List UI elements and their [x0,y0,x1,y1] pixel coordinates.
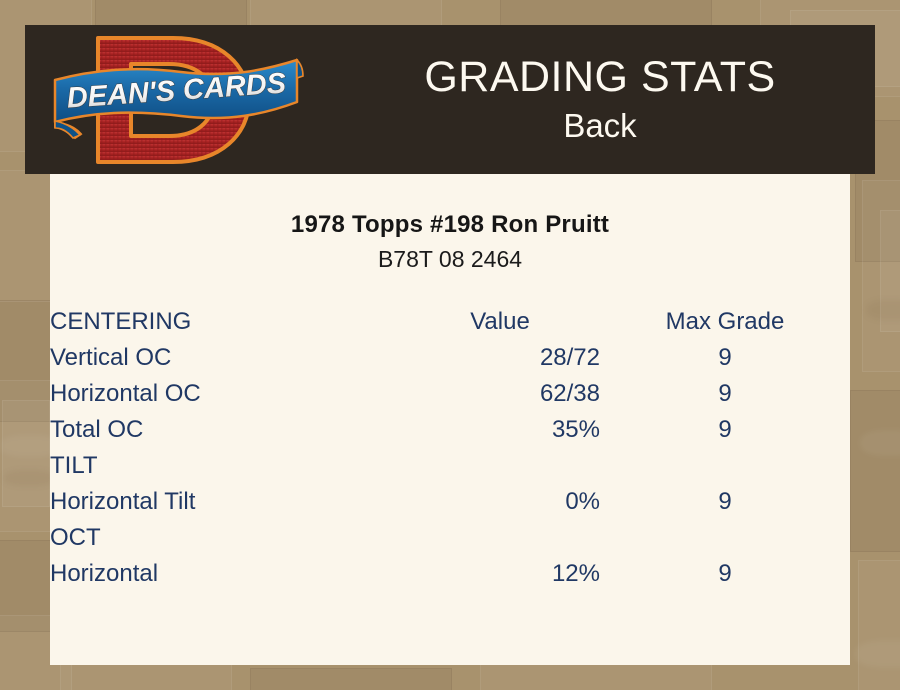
header-bar: DEAN'S CARDS GRADING STATS Back [25,25,875,174]
stat-label: Total OC [50,412,400,448]
deans-cards-logo-icon: DEAN'S CARDS [53,28,308,171]
stat-label: Horizontal OC [50,376,400,412]
deans-cards-logo: DEAN'S CARDS [53,28,308,171]
background-smudge [855,640,900,668]
card-serial-number: B78T 08 2464 [50,244,850,274]
stat-value: 0% [400,484,600,520]
background-smudge [860,430,900,456]
stat-max-grade: 9 [600,556,850,592]
background-card-shape [858,560,900,690]
column-header-value: Value [400,304,600,340]
stat-value: 62/38 [400,376,600,412]
stat-max-grade: 9 [600,484,850,520]
page-subtitle: Back [563,104,636,148]
table-row: Vertical OC28/729 [50,340,850,376]
table-row: Horizontal OC62/389 [50,376,850,412]
grading-stats-table: CENTERINGValueMax GradeVertical OC28/729… [50,304,850,592]
table-row: Horizontal12%9 [50,556,850,592]
stat-value: 12% [400,556,600,592]
section-header-centering: CENTERING [50,304,400,340]
section-header-oct: OCT [50,520,850,556]
table-row: Total OC35%9 [50,412,850,448]
stat-max-grade: 9 [600,412,850,448]
stat-max-grade: 9 [600,340,850,376]
table-header-row: CENTERINGValueMax Grade [50,304,850,340]
background-card-shape [250,668,452,690]
background-smudge [866,300,900,320]
card-title: 1978 Topps #198 Ron Pruitt [50,210,850,240]
grading-stats-body: CENTERINGValueMax GradeVertical OC28/729… [50,304,850,592]
section-row: TILT [50,448,850,484]
card-heading: 1978 Topps #198 Ron Pruitt B78T 08 2464 [50,174,850,274]
section-row: OCT [50,520,850,556]
stat-value: 28/72 [400,340,600,376]
section-header-tilt: TILT [50,448,850,484]
background-card-shape [850,390,900,552]
stat-label: Horizontal Tilt [50,484,400,520]
stat-value: 35% [400,412,600,448]
background-smudge [4,470,54,486]
stat-max-grade: 9 [600,376,850,412]
stat-label: Horizontal [50,556,400,592]
column-header-max-grade: Max Grade [600,304,850,340]
background-card-shape [480,662,712,690]
header-title-group: GRADING STATS Back [325,25,875,174]
page-title: GRADING STATS [424,52,775,102]
content-panel: 1978 Topps #198 Ron Pruitt B78T 08 2464 … [50,174,850,665]
table-row: Horizontal Tilt0%9 [50,484,850,520]
stat-label: Vertical OC [50,340,400,376]
